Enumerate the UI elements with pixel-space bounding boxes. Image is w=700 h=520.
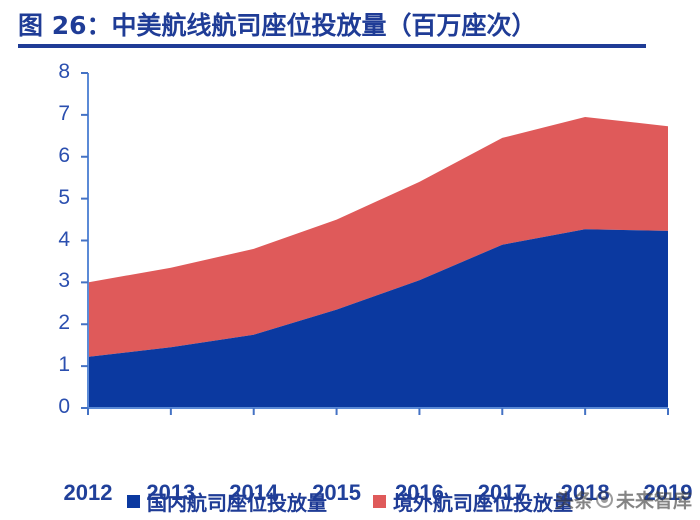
y-tick-label: 5 bbox=[36, 186, 70, 210]
y-tick-label: 6 bbox=[36, 144, 70, 168]
legend-item-foreign[interactable]: 境外航司座位投放量 bbox=[373, 487, 573, 516]
y-tick-label: 3 bbox=[36, 269, 70, 293]
watermark-account-label: 未来智库 bbox=[616, 486, 692, 513]
x-tick-marks bbox=[88, 408, 668, 415]
legend-item-domestic[interactable]: 国内航司座位投放量 bbox=[127, 487, 327, 516]
page-title: 图 26：中美航线航司座位投放量（百万座次） bbox=[18, 6, 537, 42]
legend-swatch-domestic bbox=[127, 495, 140, 508]
chart-figure: 图 26：中美航线航司座位投放量（百万座次） 012345678 2012201… bbox=[0, 0, 700, 520]
figure-header: 图 26：中美航线航司座位投放量（百万座次） bbox=[0, 0, 700, 54]
watermark: 头条 未来智库 bbox=[555, 486, 692, 513]
y-tick-label: 8 bbox=[36, 60, 70, 84]
title-underline-rule bbox=[18, 44, 646, 48]
legend-swatch-foreign bbox=[373, 495, 386, 508]
y-tick-label: 0 bbox=[36, 395, 70, 419]
y-tick-label: 7 bbox=[36, 102, 70, 126]
y-tick-label: 4 bbox=[36, 228, 70, 252]
legend-label-foreign: 境外航司座位投放量 bbox=[393, 487, 573, 516]
y-tick-label: 2 bbox=[36, 311, 70, 335]
plot-area: 012345678 201220132014201520162017201820… bbox=[0, 56, 700, 456]
area-series-group bbox=[88, 117, 668, 408]
at-circle-icon bbox=[596, 491, 613, 508]
legend-label-domestic: 国内航司座位投放量 bbox=[147, 487, 327, 516]
watermark-source-label: 头条 bbox=[555, 486, 593, 513]
stacked-area-chart bbox=[0, 56, 700, 456]
y-tick-label: 1 bbox=[36, 353, 70, 377]
y-tick-marks bbox=[81, 73, 88, 408]
